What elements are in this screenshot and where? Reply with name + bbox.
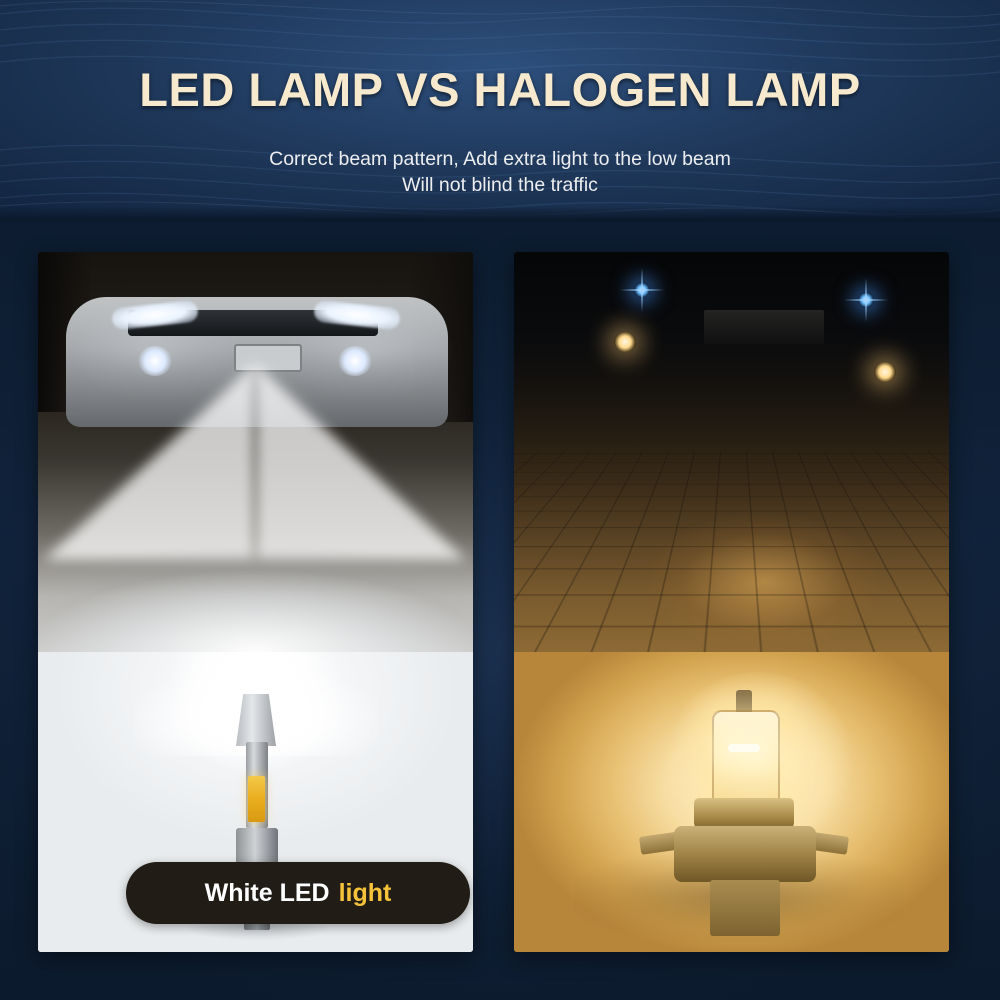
page-subtitle: Correct beam pattern, Add extra light to… xyxy=(0,146,1000,198)
halogen-glass-envelope xyxy=(712,710,780,804)
street-at-night-halogen-photo xyxy=(514,252,949,652)
left-comparison-panel: White LED light xyxy=(38,252,473,952)
car-with-white-led-headlights-photo xyxy=(38,252,473,652)
subtitle-line-1: Correct beam pattern, Add extra light to… xyxy=(269,148,731,170)
halogen-collar xyxy=(694,798,794,828)
blue-street-light-1 xyxy=(634,282,650,298)
halogen-base xyxy=(674,826,816,882)
blue-street-light-2 xyxy=(858,292,874,308)
light-ray-horizontal xyxy=(844,299,888,301)
left-caption-primary: White LED xyxy=(205,879,330,908)
dim-background-sign xyxy=(704,310,824,344)
halogen-connector-pins xyxy=(710,880,780,936)
warm-street-light-2 xyxy=(874,362,896,382)
left-caption-accent: light xyxy=(339,879,392,908)
product-comparison-image: LED LAMP VS HALOGEN LAMP Correct beam pa… xyxy=(0,0,1000,1000)
page-title: LED LAMP VS HALOGEN LAMP xyxy=(0,62,1000,117)
paving-stone-ground xyxy=(514,452,949,652)
halogen-bulb-tip xyxy=(736,690,752,712)
warm-street-light-1 xyxy=(614,332,636,352)
subtitle-line-2: Will not blind the traffic xyxy=(0,172,1000,198)
yellow-halogen-bulb-photo xyxy=(514,652,949,952)
led-chip xyxy=(248,776,265,822)
halogen-filament xyxy=(728,744,760,752)
right-comparison-panel: yellow halogen lamp xyxy=(514,252,949,952)
header-banner: LED LAMP VS HALOGEN LAMP Correct beam pa… xyxy=(0,0,1000,222)
banner-bottom-edge xyxy=(0,206,1000,222)
light-ray-horizontal xyxy=(620,289,664,291)
illuminated-road-area xyxy=(38,502,473,652)
left-caption-pill: White LED light xyxy=(126,862,470,924)
